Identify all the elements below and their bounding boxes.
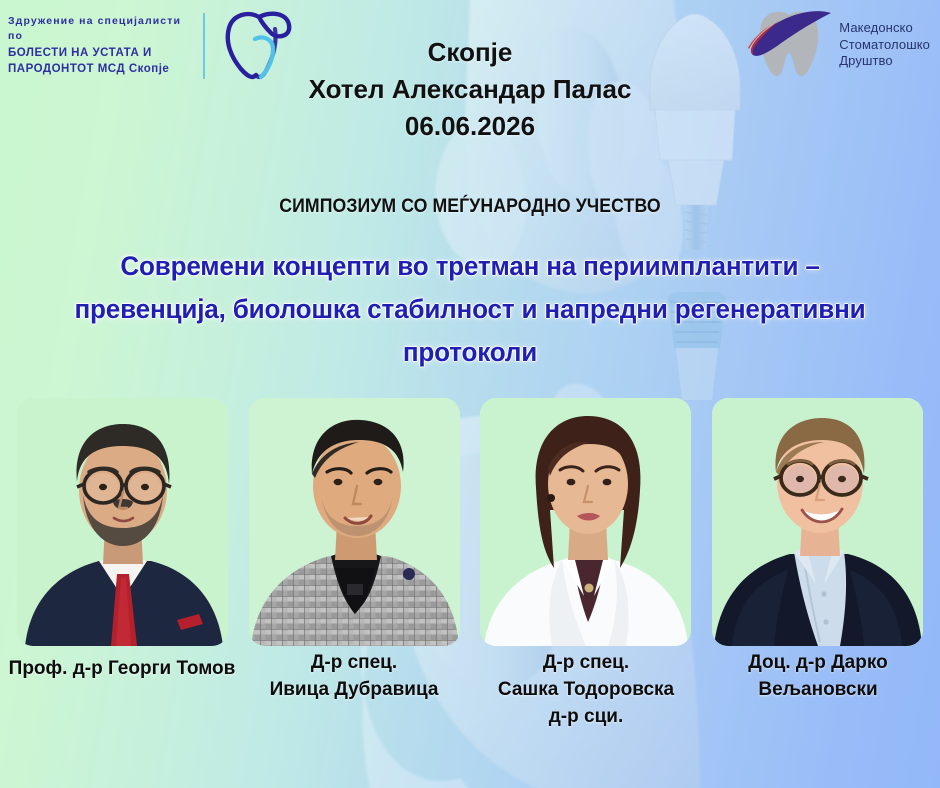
speaker-card-4 (712, 398, 923, 646)
speaker-name-3: Д-р спец. Сашка Тодоровска д-р сци. (470, 650, 702, 731)
event-date: 06.06.2026 (0, 108, 940, 145)
speaker-photo-row (0, 398, 940, 648)
title-line-2: превенција, биолошка стабилност и напред… (48, 288, 891, 331)
page-title: Современи концепти во третман на периимп… (48, 245, 891, 374)
speaker-3-line-3: д-р сци. (470, 704, 702, 731)
speaker-card-3 (480, 398, 691, 646)
speaker-1-line-1: Проф. д-р Георги Томов (6, 656, 238, 683)
symposium-label: СИМПОЗИУМ СО МЕЃУНАРОДНО УЧЕСТВО (33, 196, 907, 218)
speaker-4-line-1: Доц. д-р Дарко (702, 650, 934, 677)
speaker-card-2 (249, 398, 460, 646)
speaker-card-1 (17, 398, 228, 646)
portrait-georgi-tomov (17, 398, 228, 646)
speaker-4-line-2: Вељановски (702, 677, 934, 704)
event-venue: Хотел Александар Палас (0, 71, 940, 108)
speaker-name-4: Доц. д-р Дарко Вељановски (702, 650, 934, 731)
event-city: Скопје (0, 34, 940, 71)
symposium-poster: Здружение на специјалисти по БОЛЕСТИ НА … (0, 0, 940, 788)
speaker-name-1: Проф. д-р Георги Томов (6, 650, 238, 731)
speaker-names-row: Проф. д-р Георги Томов Д-р спец. Ивица Д… (0, 650, 940, 731)
speaker-3-line-1: Д-р спец. (470, 650, 702, 677)
portrait-darko-veljanovski (712, 398, 923, 646)
speaker-3-line-2: Сашка Тодоровска (470, 677, 702, 704)
title-line-1: Современи концепти во третман на периимп… (48, 245, 891, 288)
portrait-saska-todorovska (480, 398, 691, 646)
speaker-2-line-2: Ивица Дубравица (238, 677, 470, 704)
title-line-3: протоколи (48, 331, 891, 374)
speaker-2-line-1: Д-р спец. (238, 650, 470, 677)
event-header: Скопје Хотел Александар Палас 06.06.2026 (0, 34, 940, 146)
portrait-ivica-dubravica (249, 398, 460, 646)
speaker-name-2: Д-р спец. Ивица Дубравица (238, 650, 470, 731)
